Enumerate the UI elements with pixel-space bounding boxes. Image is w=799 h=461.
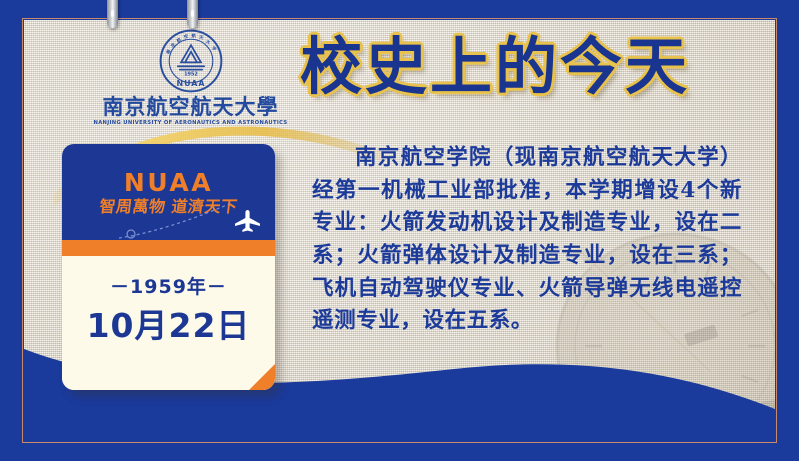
flight-path-icon — [117, 194, 237, 240]
svg-text:空: 空 — [182, 32, 189, 40]
calendar-card: NUAA 智周萬物 道濟天下 －1959年－ 10月22日 — [62, 144, 275, 390]
svg-text:1952: 1952 — [184, 72, 198, 78]
nuaa-brand-block: 1952 NUAA 南 京 航 空 航 天 大 学 南京航空航天大學 NANJI… — [88, 28, 293, 126]
binder-ring-left — [107, 0, 118, 28]
svg-text:航: 航 — [175, 36, 183, 45]
calendar-logo-text: NUAA — [62, 170, 275, 195]
nuaa-seal-icon: 1952 NUAA 南 京 航 空 航 天 大 学 — [158, 28, 224, 94]
brand-name-chinese: 南京航空航天大學 — [88, 96, 293, 118]
calendar-header: NUAA 智周萬物 道濟天下 — [62, 144, 275, 240]
svg-text:航: 航 — [191, 32, 196, 39]
svg-text:天: 天 — [198, 34, 204, 42]
binder-ring-right — [187, 0, 198, 28]
svg-text:NUAA: NUAA — [176, 79, 205, 88]
poster-root: 1952 NUAA 南 京 航 空 航 天 大 学 南京航空航天大學 NANJI… — [0, 0, 799, 461]
calendar-orange-stripe — [62, 240, 275, 256]
airplane-icon — [233, 208, 263, 234]
article-body: 南京航空学院（现南京航空航天大学）经第一机械工业部批准，本学期增设4个新专业：火… — [312, 142, 742, 338]
brand-name-english: NANJING UNIVERSITY OF AERONAUTICS AND AS… — [88, 120, 293, 126]
calendar-body: －1959年－ 10月22日 — [62, 256, 275, 390]
page-fold-corner-icon — [249, 364, 275, 390]
calendar-year: －1959年－ — [62, 278, 275, 297]
svg-text:南: 南 — [164, 48, 173, 56]
calendar-date: 10月22日 — [62, 309, 275, 342]
page-title: 校史上的今天 — [300, 36, 690, 98]
